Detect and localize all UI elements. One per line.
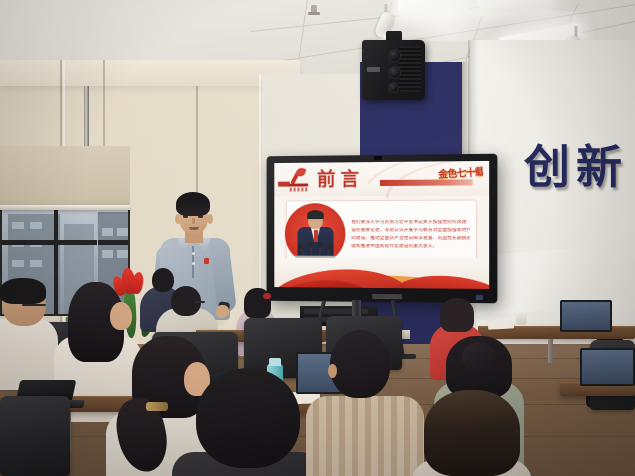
slide-title: 前言 — [317, 167, 364, 191]
laptop[interactable] — [560, 300, 612, 332]
cup[interactable] — [516, 310, 527, 325]
sprinkler-head — [311, 5, 317, 14]
person-torso — [306, 396, 424, 476]
hair-tie — [263, 293, 271, 299]
wall-sign-text: 创新 — [524, 140, 628, 194]
wall-beam — [0, 60, 300, 86]
presenter-hand — [216, 305, 229, 318]
person-head — [330, 330, 390, 398]
speaker-driver — [388, 82, 399, 93]
bottle-cap[interactable] — [269, 358, 281, 366]
person-head — [152, 268, 174, 292]
slide-body-text: 我们要深入学习贯彻习近平总书记关于加强党的作风建 设的重要论述，深刻认识开展学习… — [351, 206, 469, 264]
chair[interactable] — [0, 396, 70, 476]
person-hair — [440, 298, 474, 332]
person-hair — [424, 390, 520, 476]
slide-body-line: 我们要深入学习贯彻习近平总书记关于加强党的作风建 — [351, 219, 469, 225]
laptop[interactable] — [580, 348, 635, 386]
slide-body-line: 的建设、推动全面从严治党向纵深发展、巩固党长期执政基 — [351, 235, 469, 241]
slide-brand-mark: 金色七十载 — [438, 163, 484, 184]
wall-panel-seam — [259, 74, 261, 324]
speaker-logo — [367, 67, 380, 72]
blind-cord[interactable] — [97, 210, 98, 254]
presenter-lapel-pin — [204, 258, 209, 264]
wall-panel-seam — [103, 60, 105, 160]
window-blind[interactable] — [0, 146, 130, 208]
desk-leg — [548, 339, 553, 363]
speaker-portrait — [285, 203, 345, 265]
person-head — [196, 368, 300, 468]
glasses-icon[interactable] — [22, 304, 46, 306]
training-room-photo: 创新 — [0, 0, 635, 476]
slide-body-line: 设的重要论述，深刻认识开展学习教育对全面加强新时代党 — [351, 227, 469, 233]
display-ir-sensor — [476, 295, 483, 300]
speaker-driver — [388, 66, 401, 79]
wall-sign-innovation: 创新 — [524, 141, 628, 193]
hair-bun — [462, 342, 496, 372]
slide-header: 前言 金色七十载 — [274, 161, 489, 197]
glasses-icon — [194, 301, 205, 303]
display-camera — [374, 156, 382, 160]
blind-bottom-rail[interactable] — [0, 205, 130, 210]
display-screen[interactable]: 前言 金色七十载 — [274, 161, 489, 289]
party-torch-emblem-icon — [289, 169, 310, 193]
paper-sheet — [488, 321, 514, 329]
interactive-display[interactable]: 前言 金色七十载 — [267, 154, 498, 304]
speaker-grille — [399, 46, 421, 92]
speaker-driver — [388, 49, 401, 62]
display-brand-label — [372, 294, 402, 299]
ceiling-speaker — [362, 40, 425, 100]
slide-body-line: 础和推进中国式现代化建设的重大意义。 — [351, 243, 469, 249]
person-hair — [0, 278, 46, 304]
presentation-slide: 前言 金色七十载 — [274, 161, 489, 289]
presenter-hair — [176, 192, 210, 216]
slide-footer-ribbons — [274, 258, 489, 289]
hair-tie — [146, 402, 168, 411]
person-head — [110, 302, 132, 330]
